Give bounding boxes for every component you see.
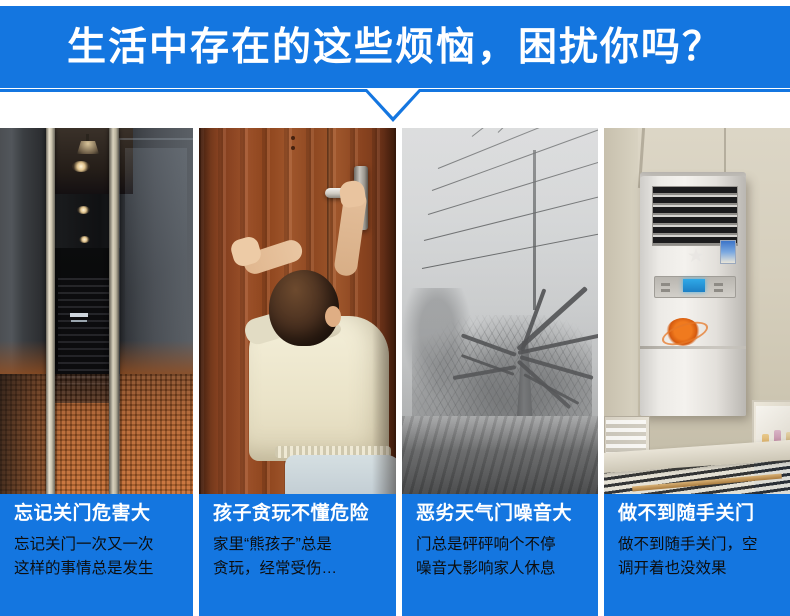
panel-bad-weather-door-noise[interactable]: 恶劣天气门噪音大 门总是砰砰响个不停 噪音大影响家人休息 bbox=[402, 128, 598, 616]
caption-line: 调开着也没效果 bbox=[618, 557, 784, 581]
child-door-handle-photo bbox=[199, 128, 396, 494]
air-conditioner-room-photo bbox=[604, 128, 790, 494]
caption-title: 恶劣天气门噪音大 bbox=[416, 503, 586, 526]
panel-forget-to-close-door[interactable]: 忘记关门危害大 忘记关门一次又一次 这样的事情总是发生 bbox=[0, 128, 193, 616]
caption-line: 这样的事情总是发生 bbox=[14, 557, 181, 581]
header-banner: 生活中存在的这些烦恼，困扰你吗？ bbox=[0, 6, 790, 88]
caption-line: 门总是砰砰响个不停 bbox=[416, 533, 586, 557]
caption-body: 做不到随手关门，空 调开着也没效果 bbox=[618, 533, 784, 581]
caption-line: 家里“熊孩子”总是 bbox=[213, 533, 384, 557]
caption-block: 孩子贪玩不懂危险 家里“熊孩子”总是 贪玩，经常受伤… bbox=[199, 494, 396, 616]
caption-title: 忘记关门危害大 bbox=[14, 503, 181, 526]
panel-grid: 忘记关门危害大 忘记关门一次又一次 这样的事情总是发生 bbox=[0, 128, 790, 616]
caption-block: 做不到随手关门 做不到随手关门，空 调开着也没效果 bbox=[604, 494, 790, 616]
banner-pointer-triangle-cutout-icon bbox=[367, 89, 419, 117]
page-title: 生活中存在的这些烦恼，困扰你吗？ bbox=[67, 28, 723, 67]
caption-body: 忘记关门一次又一次 这样的事情总是发生 bbox=[14, 533, 181, 581]
caption-title: 孩子贪玩不懂危险 bbox=[213, 503, 384, 526]
caption-line: 噪音大影响家人休息 bbox=[416, 557, 586, 581]
corridor-glass-doors-photo bbox=[0, 128, 193, 494]
promo-banner-page: 生活中存在的这些烦恼，困扰你吗？ bbox=[0, 0, 790, 616]
caption-block: 忘记关门危害大 忘记关门一次又一次 这样的事情总是发生 bbox=[0, 494, 193, 616]
caption-title: 做不到随手关门 bbox=[618, 503, 784, 526]
caption-block: 恶劣天气门噪音大 门总是砰砰响个不停 噪音大影响家人休息 bbox=[402, 494, 598, 616]
caption-body: 家里“熊孩子”总是 贪玩，经常受伤… bbox=[213, 533, 384, 581]
caption-line: 贪玩，经常受伤… bbox=[213, 557, 384, 581]
stormy-tree-power-lines-photo bbox=[402, 128, 598, 494]
caption-line: 做不到随手关门，空 bbox=[618, 533, 784, 557]
panel-child-playing-danger[interactable]: 孩子贪玩不懂危险 家里“熊孩子”总是 贪玩，经常受伤… bbox=[199, 128, 396, 616]
panel-cannot-close-door-habit[interactable]: 做不到随手关门 做不到随手关门，空 调开着也没效果 bbox=[604, 128, 790, 616]
caption-line: 忘记关门一次又一次 bbox=[14, 533, 181, 557]
caption-body: 门总是砰砰响个不停 噪音大影响家人休息 bbox=[416, 533, 586, 581]
